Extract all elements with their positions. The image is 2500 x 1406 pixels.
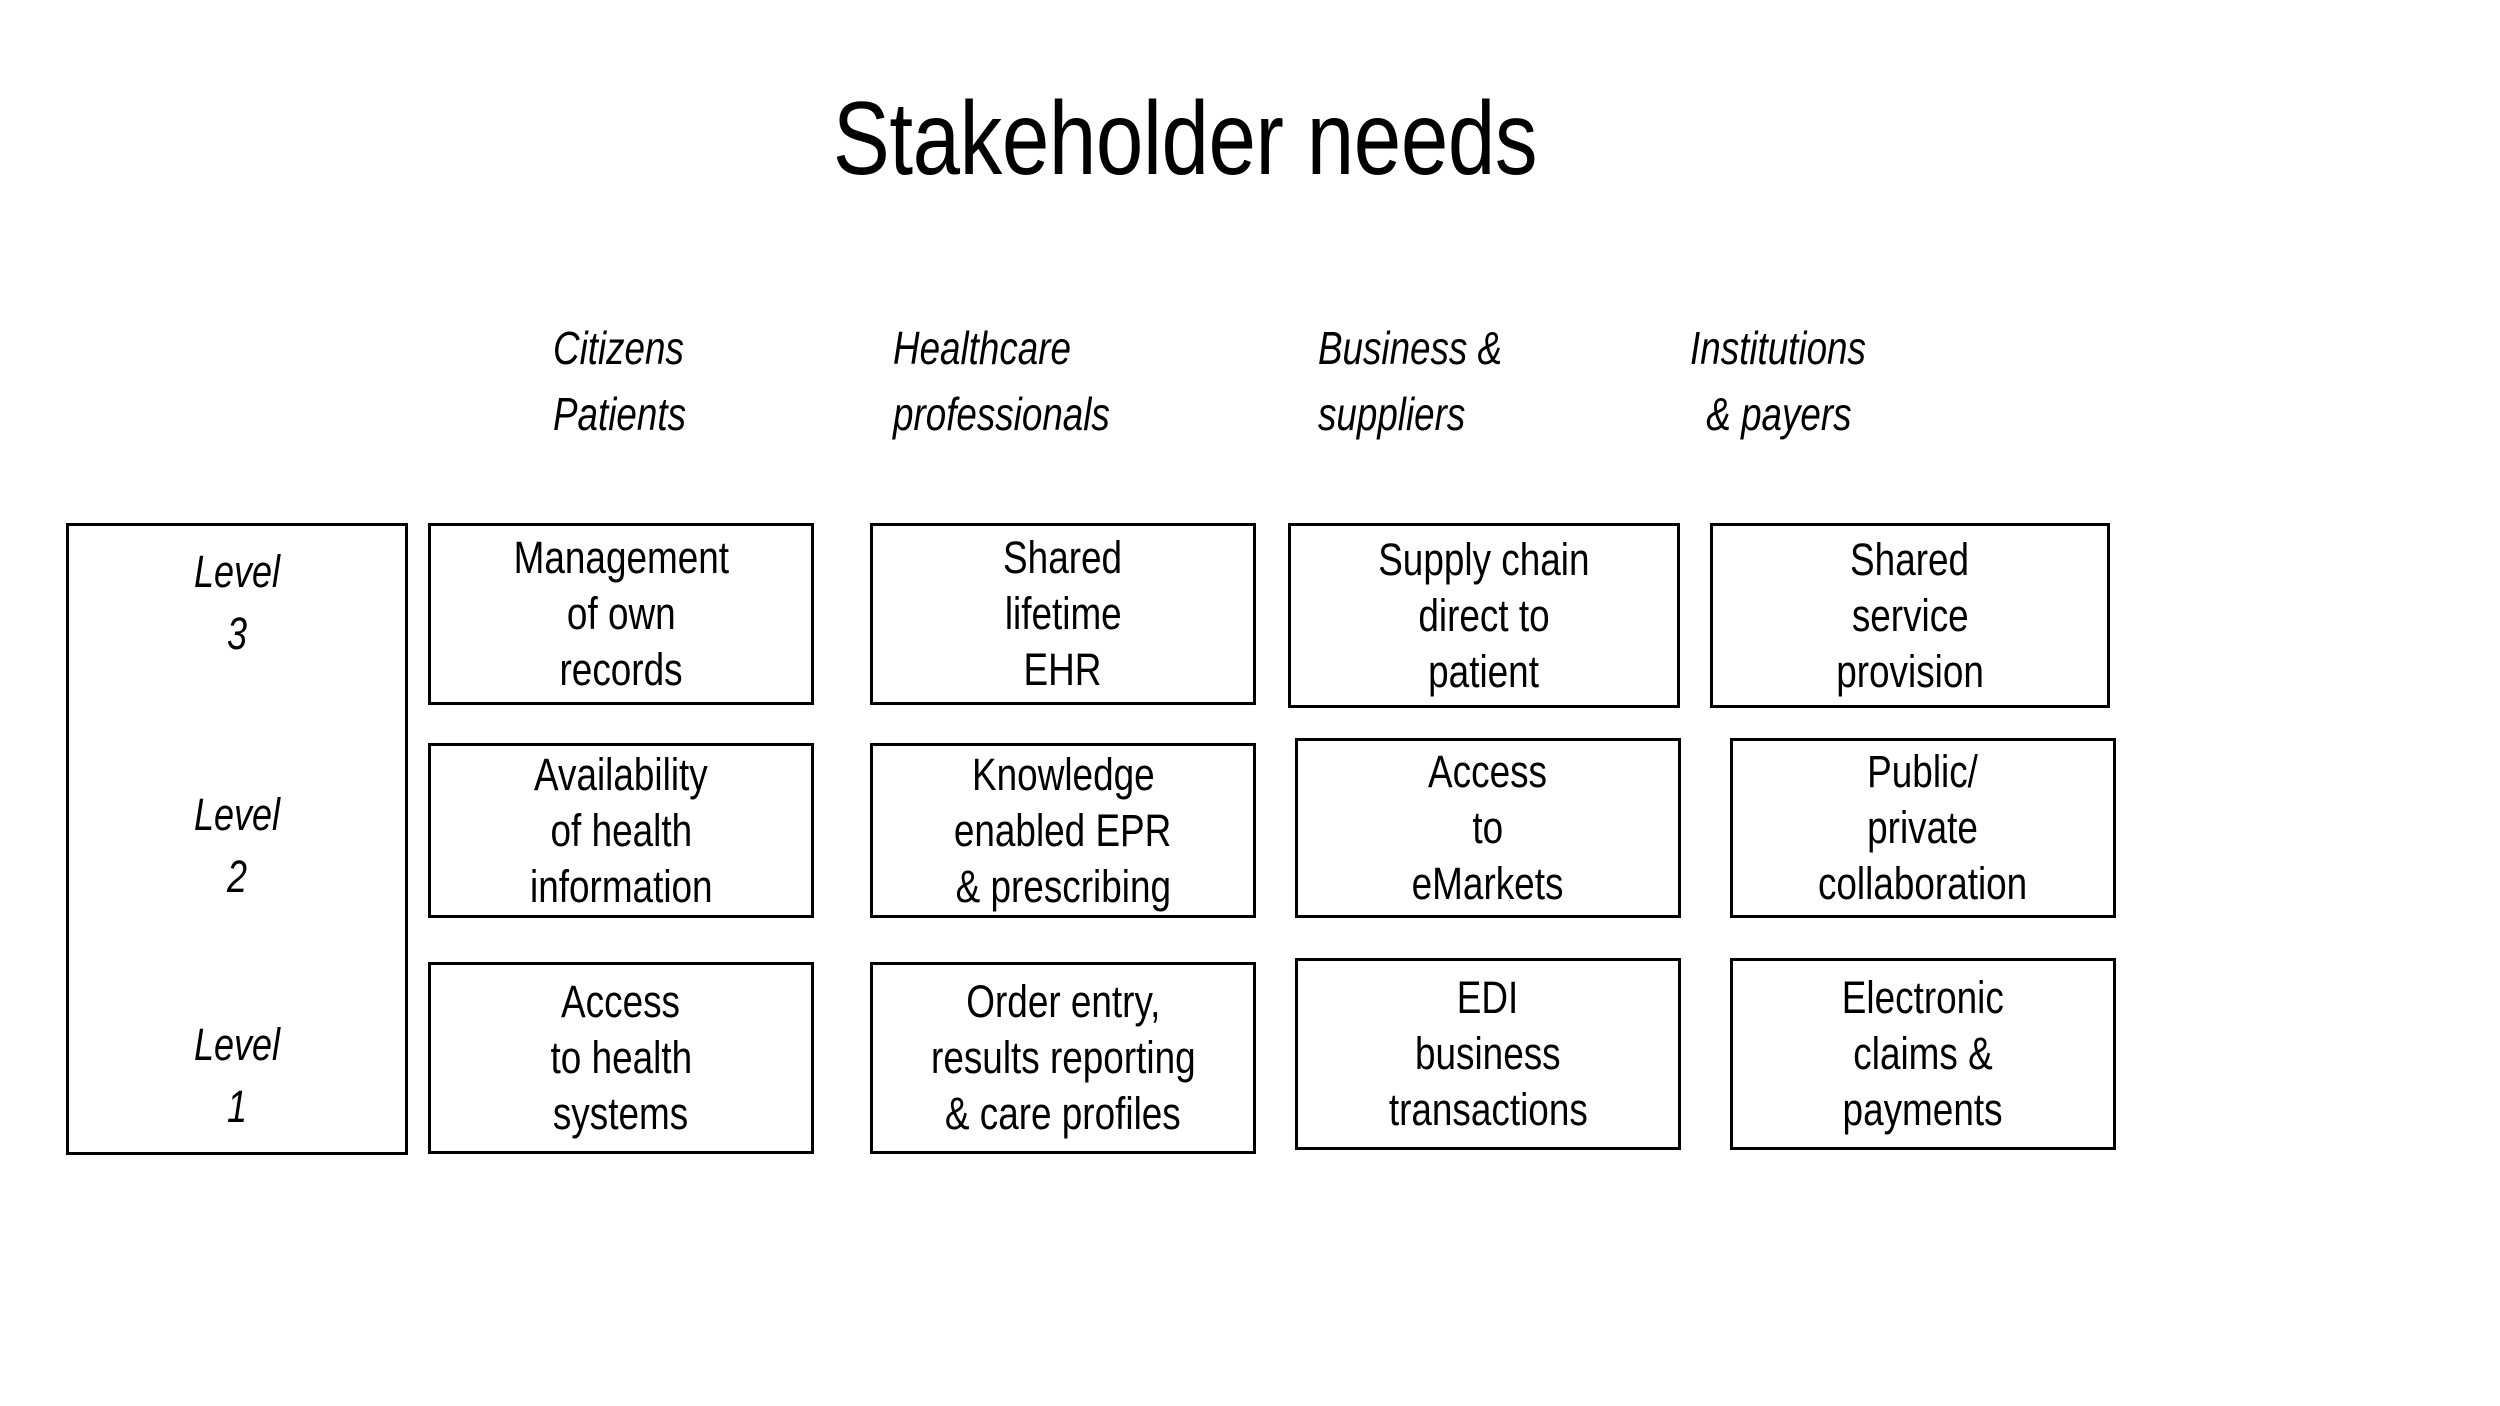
matrix-cell-level1-citizens: Access to health systems [428,962,814,1154]
matrix-cell-line: Access [562,974,681,1030]
matrix-cell-line: to health [550,1030,692,1086]
matrix-cell-line: transactions [1389,1082,1588,1138]
matrix-cell-level1-healthcare: Order entry, results reporting & care pr… [870,962,1256,1154]
matrix-cell-line: private [1868,800,1979,856]
level-label-3: Level 3 [103,541,372,665]
column-header-institutions-line2: & payers [1690,381,1866,447]
matrix-cell-line: & care profiles [945,1086,1181,1142]
column-header-healthcare: Healthcare professionals [893,315,1110,447]
level-label-1-word: Level [103,1014,372,1076]
level-axis-box: Level 3 Level 2 Level 1 [66,523,408,1155]
level-label-2-word: Level [103,784,372,846]
matrix-cell-line: Shared [1850,532,1969,588]
matrix-cell-level3-institutions: Shared service provision [1710,523,2110,708]
column-header-business-line2: suppliers [1318,381,1502,447]
matrix-cell-line: Electronic [1842,970,2004,1026]
level-label-1: Level 1 [103,1014,372,1138]
matrix-cell-line: EHR [1024,642,1102,698]
column-header-institutions: Institutions & payers [1690,315,1866,447]
matrix-cell-line: provision [1836,644,1984,700]
level-label-1-number: 1 [103,1076,372,1138]
slide-canvas: Stakeholder needs Citizens Patients Heal… [0,0,2500,1406]
matrix-cell-level3-business: Supply chain direct to patient [1288,523,1680,708]
matrix-cell-line: eMarkets [1412,856,1564,912]
level-label-3-word: Level [103,541,372,603]
matrix-cell-line: payments [1843,1082,2003,1138]
matrix-cell-line: enabled EPR [954,803,1171,859]
matrix-cell-line: Access [1429,744,1548,800]
matrix-cell-level1-institutions: Electronic claims & payments [1730,958,2116,1150]
column-header-healthcare-line2: professionals [893,381,1110,447]
column-header-institutions-line1: Institutions [1690,315,1866,381]
level-label-2-number: 2 [103,846,372,908]
matrix-cell-line: Management [513,530,728,586]
matrix-cell-line: direct to [1418,588,1549,644]
matrix-cell-line: service [1852,588,1969,644]
matrix-cell-line: & prescribing [955,859,1170,915]
matrix-cell-level2-citizens: Availability of health information [428,743,814,918]
matrix-cell-line: of own [567,586,676,642]
matrix-cell-level2-business: Access to eMarkets [1295,738,1681,918]
level-label-3-number: 3 [103,603,372,665]
matrix-cell-level1-business: EDI business transactions [1295,958,1681,1150]
matrix-cell-level3-healthcare: Shared lifetime EHR [870,523,1256,705]
column-header-healthcare-line1: Healthcare [893,315,1110,381]
matrix-cell-line: results reporting [931,1030,1196,1086]
column-header-citizens: Citizens Patients [553,315,686,447]
matrix-cell-line: Shared [1003,530,1122,586]
matrix-cell-line: patient [1429,644,1540,700]
matrix-cell-level2-healthcare: Knowledge enabled EPR & prescribing [870,743,1256,918]
column-header-citizens-line2: Patients [553,381,686,447]
matrix-cell-line: collaboration [1818,856,2027,912]
matrix-cell-line: Knowledge [972,747,1155,803]
column-header-business: Business & suppliers [1318,315,1502,447]
matrix-cell-line: business [1415,1026,1561,1082]
level-label-2: Level 2 [103,784,372,908]
column-header-citizens-line1: Citizens [553,315,686,381]
matrix-cell-line: lifetime [1005,586,1122,642]
matrix-cell-line: of health [550,803,692,859]
matrix-cell-line: EDI [1457,970,1519,1026]
column-header-business-line1: Business & [1318,315,1502,381]
matrix-cell-line: information [530,859,713,915]
matrix-cell-line: systems [553,1086,688,1142]
matrix-cell-level3-citizens: Management of own records [428,523,814,705]
matrix-cell-line: Availability [534,747,708,803]
matrix-cell-line: records [559,642,682,698]
matrix-cell-line: claims & [1853,1026,1992,1082]
matrix-cell-line: Supply chain [1378,532,1589,588]
page-title: Stakeholder needs [213,85,2156,194]
matrix-cell-line: Public/ [1868,744,1979,800]
matrix-cell-line: to [1473,800,1504,856]
matrix-cell-line: Order entry, [966,974,1160,1030]
matrix-cell-level2-institutions: Public/ private collaboration [1730,738,2116,918]
